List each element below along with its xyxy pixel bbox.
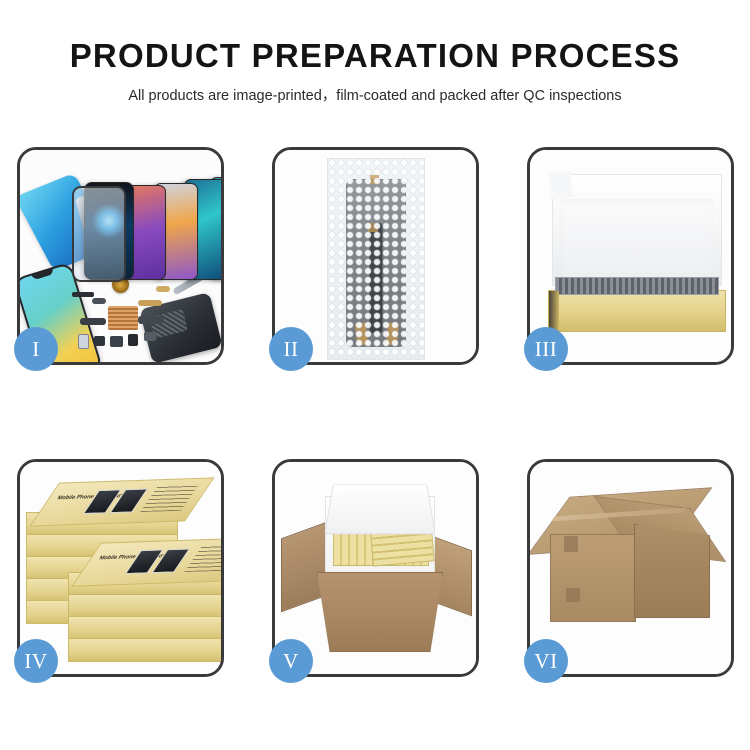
sealed-carton-scene [530,462,731,674]
carton-body-icon [317,572,443,652]
step-image-6 [530,462,731,674]
spare-parts-group [72,282,182,362]
carton-side-face [634,524,710,618]
yellow-box-base-icon [548,290,726,332]
step-panel-5[interactable]: V [272,459,479,677]
component-5-icon [144,332,156,341]
bar-part-icon [72,292,94,297]
step-panel-2[interactable]: II [272,147,479,365]
phone-parts-scene [20,150,221,362]
carton-packing-scene [275,462,476,674]
step-image-4: Mobile Phone Spare Parts Mobile Phone Sp… [20,462,221,674]
carton-tab-2-icon [566,588,580,602]
box-spec-lines-1 [140,485,198,512]
flex-cable-1-icon [80,318,106,325]
foam-lid-icon [324,484,435,534]
step-image-2 [275,150,476,362]
component-7-icon [156,286,170,292]
bubble-wrap-bag-icon [327,158,425,360]
step-panel-6[interactable]: VI [527,459,734,677]
open-box-scene [530,150,731,362]
logic-board-part-icon [108,306,138,330]
component-1-icon [78,334,89,349]
stack-box-8 [68,616,221,640]
step-badge-2: II [269,327,313,371]
carton-front-face [550,534,636,622]
step-panel-1[interactable]: I [17,147,224,365]
page-subtitle: All products are image-printed，film-coat… [0,86,750,106]
step-badge-1: I [14,327,58,371]
carton-flap-left-icon [281,522,327,613]
carton-tab-1-icon [564,536,578,552]
box-stack-group: Mobile Phone Spare Parts Mobile Phone Sp… [24,476,221,666]
tempered-glass-film-icon [72,186,126,282]
page-header: PRODUCT PREPARATION PROCESS All products… [0,36,750,106]
page-title: PRODUCT PREPARATION PROCESS [0,36,750,76]
component-3-icon [110,336,123,347]
bubble-wrap-scene [275,150,476,362]
step-badge-6: VI [524,639,568,683]
box-stack-scene: Mobile Phone Spare Parts Mobile Phone Sp… [20,462,221,674]
step-image-3 [530,150,731,362]
stack-box-9 [68,638,221,662]
step-badge-3: III [524,327,568,371]
stack-box-7 [68,594,221,618]
component-2-icon [94,336,105,346]
step-badge-4: IV [14,639,58,683]
step-panel-3[interactable]: III [527,147,734,365]
flex-cable-2-icon [138,300,162,306]
white-foam-lid-icon [552,174,722,286]
process-step-grid: I II III [17,147,733,677]
step-image-1 [20,150,221,362]
component-4-icon [128,334,138,346]
stack-box-lid-1: Mobile Phone Spare Parts [29,477,214,526]
step-image-5 [275,462,476,674]
flex-cable-3-icon [138,316,164,324]
component-6-icon [92,298,106,304]
step-panel-4[interactable]: Mobile Phone Spare Parts Mobile Phone Sp… [17,459,224,677]
step-badge-5: V [269,639,313,683]
bubble-texture [328,159,424,359]
